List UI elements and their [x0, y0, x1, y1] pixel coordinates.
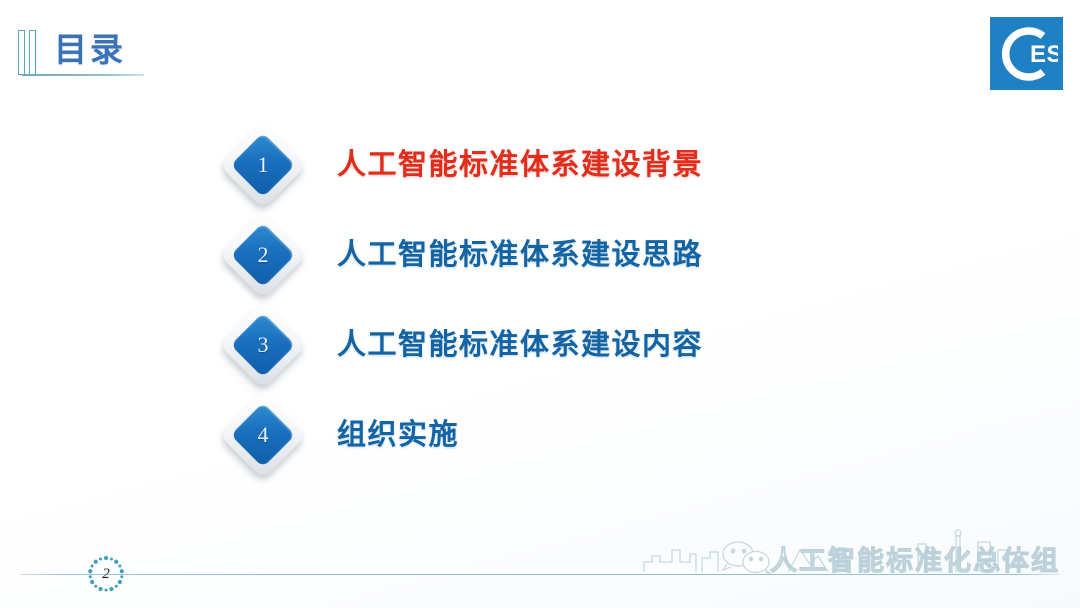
toc-label-1[interactable]: 人工智能标准体系建设背景	[337, 145, 703, 185]
toc-label-2[interactable]: 人工智能标准体系建设思路	[337, 235, 703, 275]
title-accent-bars	[18, 30, 38, 75]
toc-item-4[interactable]: 4 组织实施	[0, 390, 1080, 480]
toc-item-2[interactable]: 2 人工智能标准体系建设思路	[0, 210, 1080, 300]
esi-logo-mark: ESI	[996, 23, 1058, 85]
page-number: 2	[86, 554, 126, 594]
toc-label-4[interactable]: 组织实施	[337, 415, 459, 455]
toc-number-4: 4	[240, 412, 286, 458]
toc-number-badge-3: 3	[215, 300, 307, 390]
page-title: 目录	[54, 26, 126, 74]
watermark-text: 人工智能标准化总体组	[770, 539, 1060, 578]
toc-number-badge-4: 4	[215, 390, 307, 480]
svg-text:ESI: ESI	[1030, 41, 1058, 68]
toc-number-1: 1	[240, 142, 286, 188]
toc-number-badge-1: 1	[215, 120, 307, 210]
page-number-badge: 2	[86, 554, 126, 594]
toc-item-3[interactable]: 3 人工智能标准体系建设内容	[0, 300, 1080, 390]
toc-item-1[interactable]: 1 人工智能标准体系建设背景	[0, 120, 1080, 210]
toc-number-badge-2: 2	[215, 210, 307, 300]
toc-number-2: 2	[240, 232, 286, 278]
slide-footer: 2	[0, 518, 1080, 608]
slide-header: 目录 ESI	[0, 0, 1080, 110]
toc-list: 1 人工智能标准体系建设背景 2 人工智能标准体系建设思路 3 人工智能标准体系…	[0, 120, 1080, 480]
toc-number-3: 3	[240, 322, 286, 368]
toc-label-3[interactable]: 人工智能标准体系建设内容	[337, 325, 703, 365]
esi-logo: ESI	[990, 17, 1063, 90]
title-underline	[22, 74, 144, 76]
footer-watermark: 人工智能标准化总体组	[638, 526, 1068, 586]
